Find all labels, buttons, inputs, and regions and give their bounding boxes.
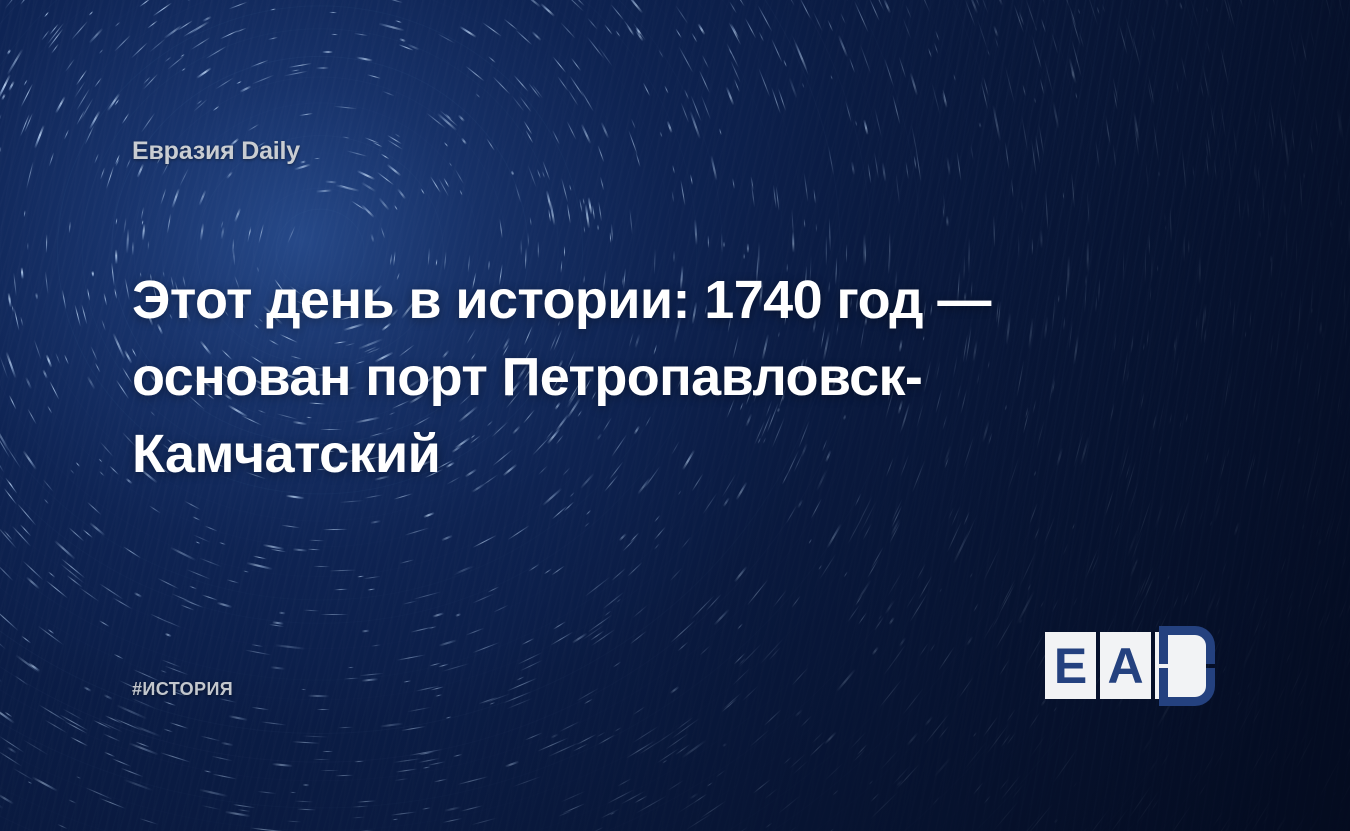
hashtag-history: #ИСТОРИЯ — [132, 679, 233, 700]
news-social-card: Евразия Daily Этот день в истории: 1740 … — [0, 0, 1350, 831]
page-title: Этот день в истории: 1740 год — основан … — [132, 262, 1012, 493]
logo-d-lower-bowl — [1159, 668, 1215, 706]
logo-letter-d — [1155, 626, 1223, 706]
brand-name: Евразия Daily — [132, 137, 300, 166]
card-content: Евразия Daily Этот день в истории: 1740 … — [0, 0, 1350, 831]
logo-letter-a: A — [1100, 632, 1151, 699]
ead-logo: E A — [1045, 632, 1225, 700]
logo-letter-e: E — [1045, 632, 1096, 699]
logo-d-upper-bowl — [1159, 626, 1215, 664]
